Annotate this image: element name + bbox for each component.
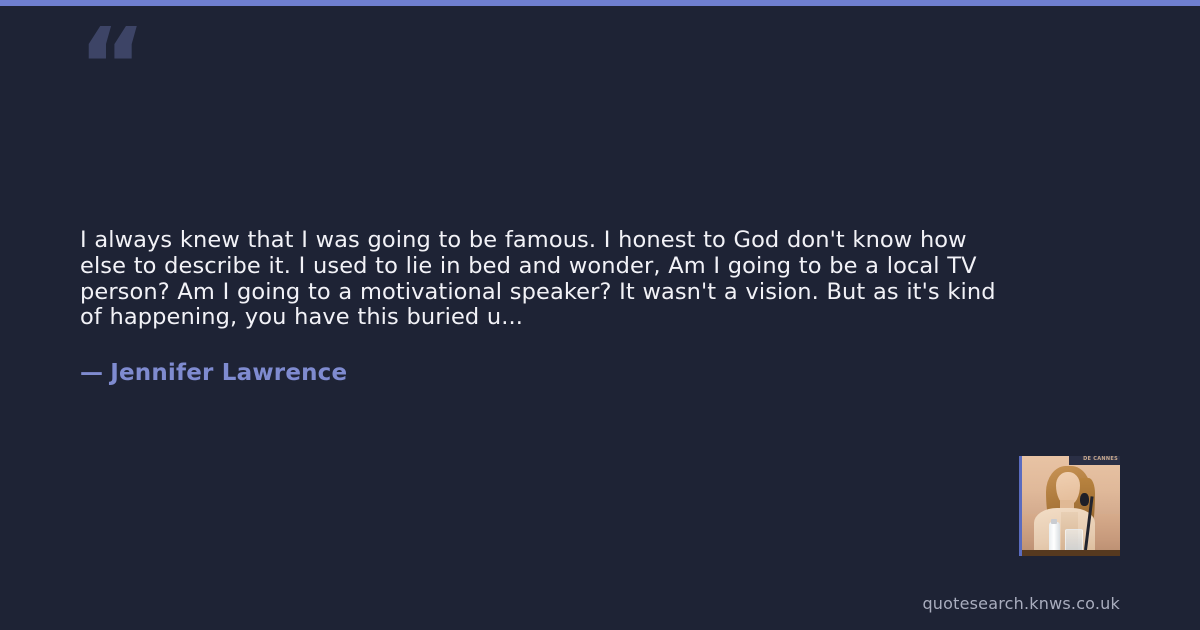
photo-banner-text: DE CANNES (1083, 456, 1118, 462)
quote-card: “ I always knew that I was going to be f… (0, 6, 1200, 630)
decorative-quote-icon: “ (78, 14, 144, 118)
author-photo-thumbnail: DE CANNES (1019, 456, 1120, 556)
attribution-dash: — (80, 360, 103, 386)
author-photo-image: DE CANNES (1022, 456, 1120, 556)
quote-attribution: —Jennifer Lawrence (80, 360, 347, 386)
quote-text: I always knew that I was going to be fam… (80, 228, 1008, 331)
photo-microphone-head (1080, 493, 1089, 506)
photo-table-edge (1022, 550, 1120, 556)
site-url-label: quotesearch.knws.co.uk (922, 594, 1120, 613)
photo-bottle-cap (1051, 519, 1057, 524)
attribution-author-name: Jennifer Lawrence (110, 360, 347, 386)
